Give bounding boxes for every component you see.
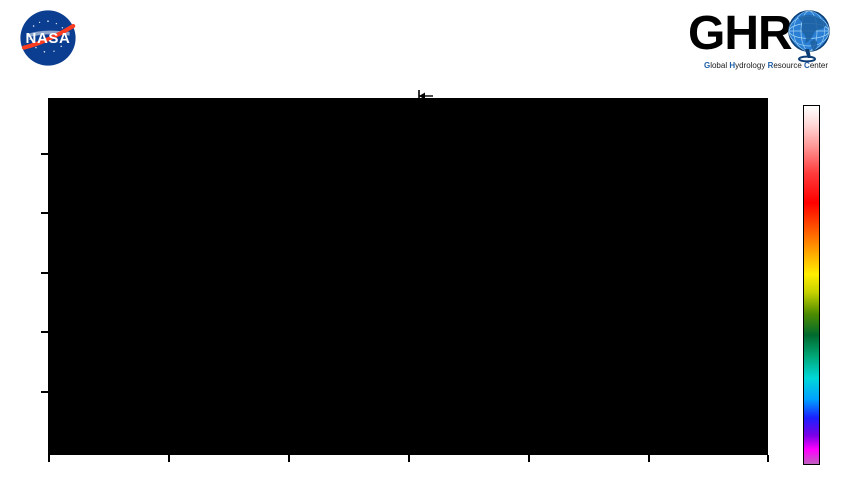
nasa-meatball-icon: NASA <box>18 8 78 68</box>
nasa-logo: NASA <box>10 6 84 90</box>
ghrc-logo: GHR Global Hydrology Resource Center <box>686 5 846 85</box>
visualization-root: NASA GHR Global <box>0 0 854 502</box>
svg-text:GHR: GHR <box>688 7 792 60</box>
svg-text:NASA: NASA <box>26 30 71 47</box>
ghrc-tagline: Global Hydrology Resource Center <box>686 61 846 70</box>
colorbar-gradient <box>803 105 820 465</box>
lat-tick-30n <box>41 212 48 214</box>
lat-tick-60s <box>41 391 48 393</box>
lat-tick-60n <box>41 153 48 155</box>
globe-icon <box>789 11 829 61</box>
lat-tick-eq <box>41 272 48 274</box>
lon-tick-120w <box>528 455 530 462</box>
brightness-temperature-map[interactable] <box>48 98 768 455</box>
descending-node-arrow-icon <box>404 90 434 104</box>
lon-tick-0 <box>48 455 50 462</box>
lon-tick-180 <box>408 455 410 462</box>
lon-tick-60w <box>648 455 650 462</box>
lat-tick-30s <box>41 331 48 333</box>
map-raster <box>48 98 768 455</box>
lon-tick-120e <box>288 455 290 462</box>
lon-tick-360 <box>767 455 769 462</box>
lon-tick-60e <box>168 455 170 462</box>
ghrc-wordmark-icon: GHR <box>686 5 846 63</box>
